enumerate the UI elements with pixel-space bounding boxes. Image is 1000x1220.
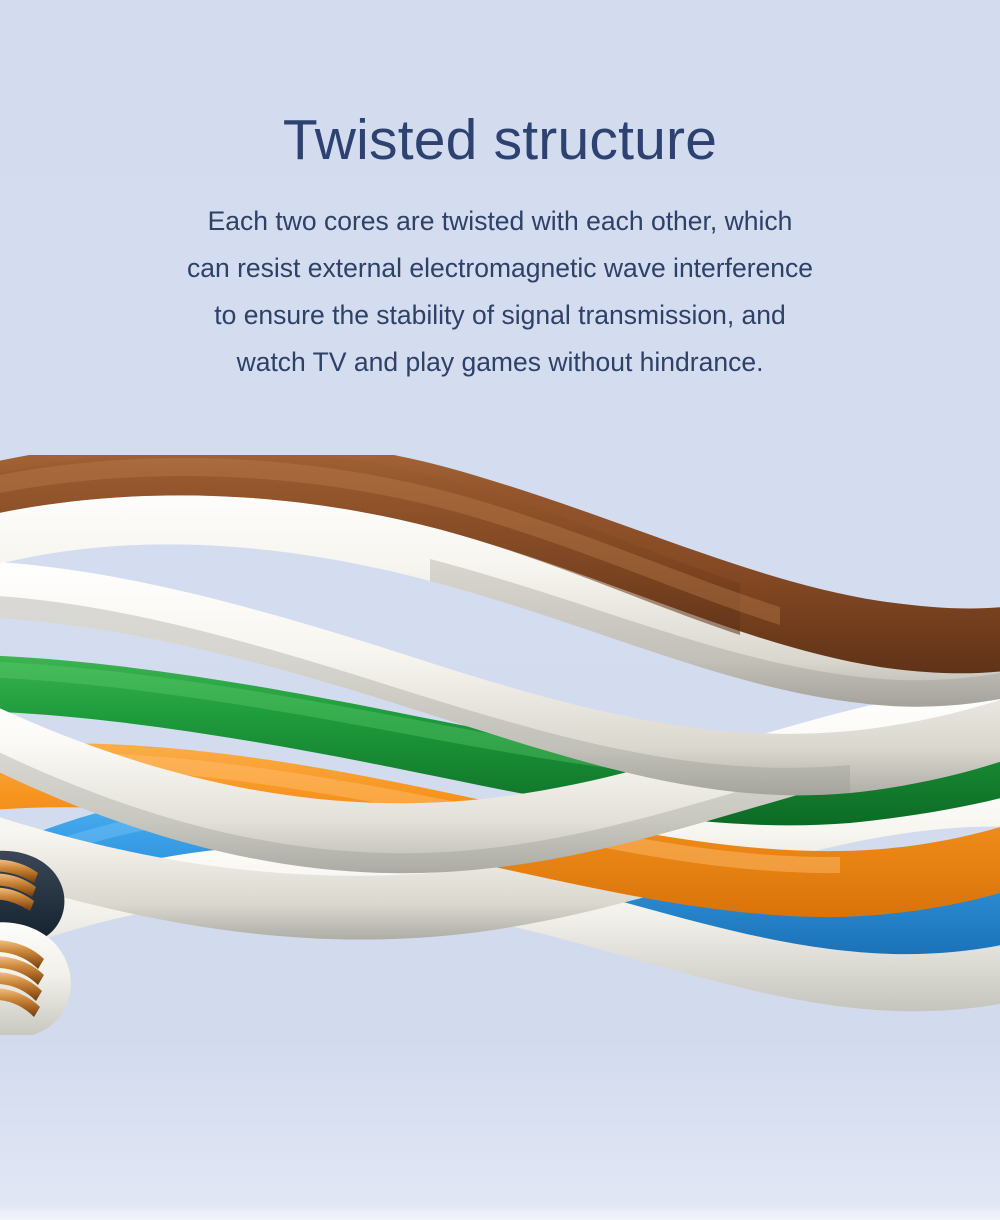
text-block: Twisted structure Each two cores are twi…	[0, 0, 1000, 386]
description-line-4: watch TV and play games without hindranc…	[0, 339, 1000, 386]
twisted-pair-cable-illustration	[0, 455, 1000, 1035]
bottom-light-band	[0, 1206, 1000, 1220]
cable-svg	[0, 455, 1000, 1035]
brown-pair	[0, 455, 1000, 707]
product-feature-page: Twisted structure Each two cores are twi…	[0, 0, 1000, 1220]
description-line-2: can resist external electromagnetic wave…	[0, 245, 1000, 292]
description-line-3: to ensure the stability of signal transm…	[0, 292, 1000, 339]
description-line-1: Each two cores are twisted with each oth…	[0, 198, 1000, 245]
page-title: Twisted structure	[0, 0, 1000, 169]
description-paragraph: Each two cores are twisted with each oth…	[0, 169, 1000, 386]
